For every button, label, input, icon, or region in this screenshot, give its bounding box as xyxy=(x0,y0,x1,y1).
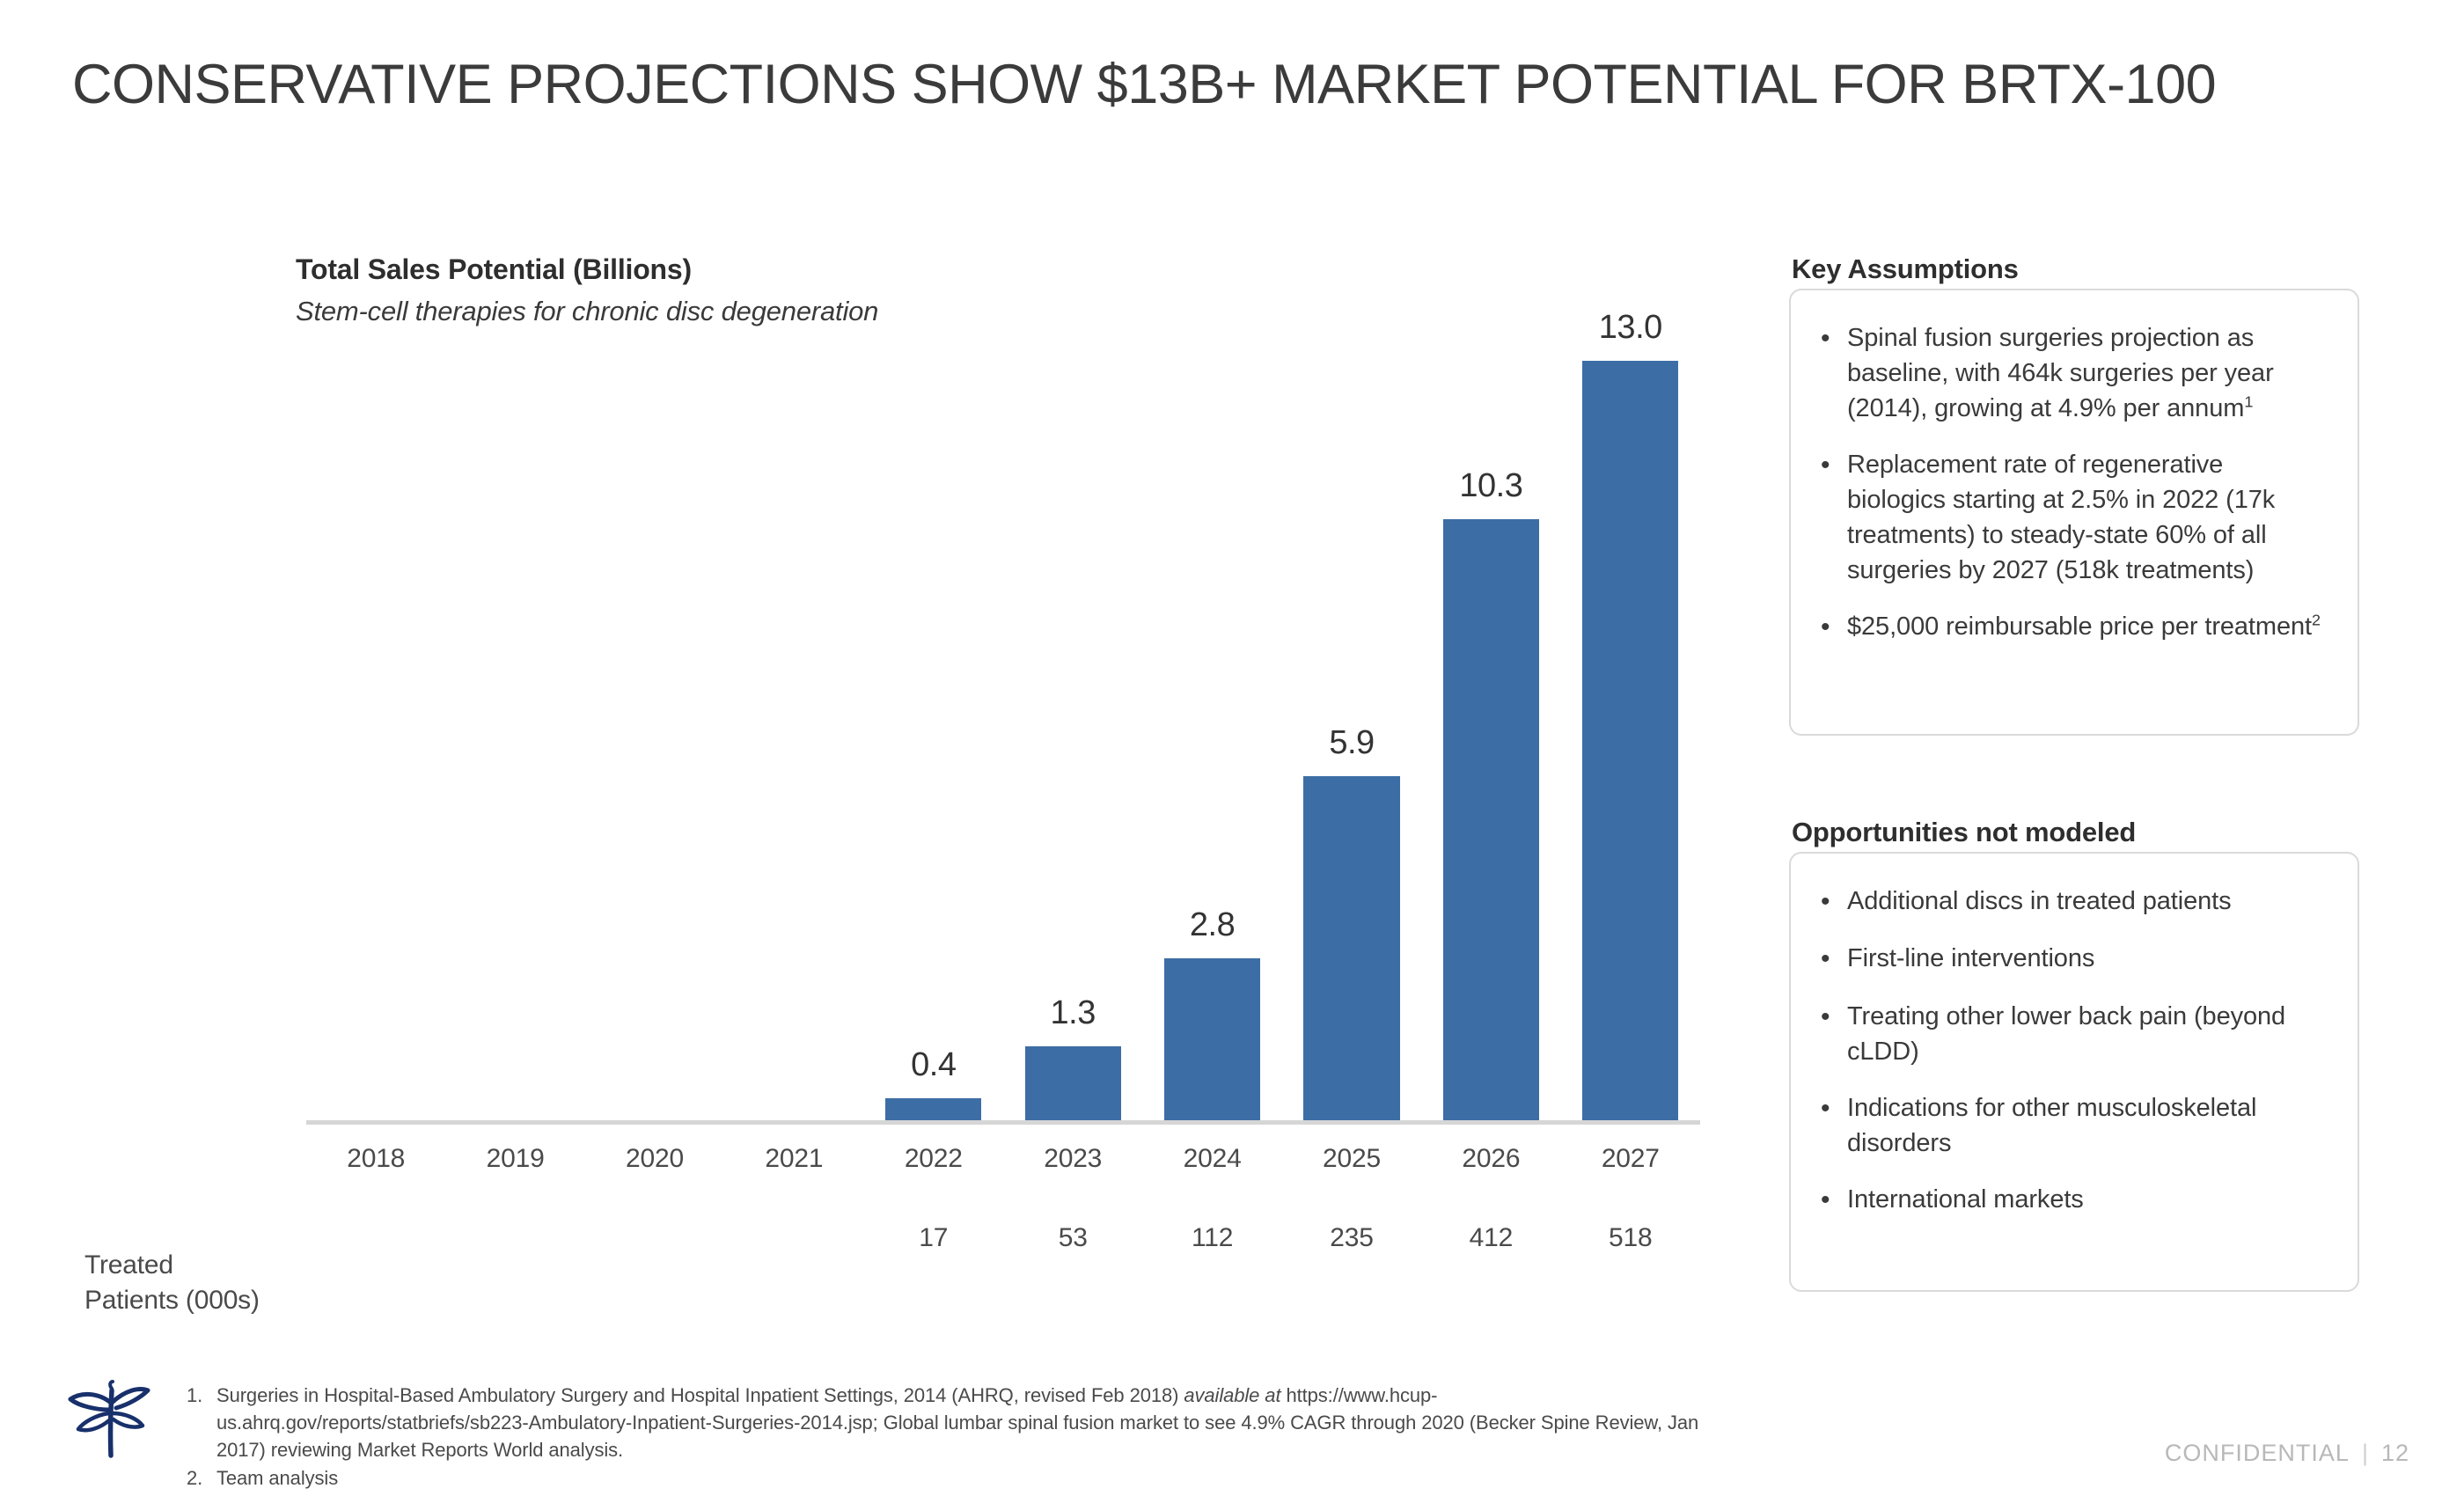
treated-patients-2024: 112 xyxy=(1142,1223,1281,1253)
page-number: 12 xyxy=(2381,1440,2409,1466)
bar-slot xyxy=(585,290,724,1122)
treated-patients-2026: 412 xyxy=(1421,1223,1560,1253)
treated-patients-2023: 53 xyxy=(1003,1223,1142,1253)
bar-slot xyxy=(724,290,863,1122)
bullet-dot-icon: • xyxy=(1821,447,1847,483)
treated-patients-title-line-2: Patients (000s) xyxy=(84,1283,260,1318)
x-axis-label-2021: 2021 xyxy=(724,1144,863,1174)
footnote-number: 2. xyxy=(187,1464,216,1492)
bullet-dot-icon: • xyxy=(1821,1182,1847,1218)
chart-heading: Total Sales Potential (Billions) xyxy=(296,253,692,286)
key-assumption-item: •Spinal fusion surgeries projection as b… xyxy=(1821,320,2328,426)
treated-patients-2022: 17 xyxy=(864,1223,1003,1253)
bar-value-label-2027: 13.0 xyxy=(1561,309,1700,347)
key-assumptions-list: •Spinal fusion surgeries projection as b… xyxy=(1791,290,2358,664)
key-assumptions-heading: Key Assumptions xyxy=(1792,253,2019,285)
x-axis-label-2022: 2022 xyxy=(864,1144,1003,1174)
bar-slot: 2.8 xyxy=(1142,290,1281,1122)
bar-2023[interactable] xyxy=(1025,1046,1121,1123)
footnote-italic: available at xyxy=(1184,1384,1280,1406)
key-assumption-item-text: Replacement rate of regenerative biologi… xyxy=(1847,447,2328,588)
x-axis-label-2023: 2023 xyxy=(1003,1144,1142,1174)
opportunity-item: •Additional discs in treated patients xyxy=(1821,884,2328,920)
bar-value-label-2022: 0.4 xyxy=(864,1046,1003,1084)
x-axis-tick-labels: 2018201920202021202220232024202520262027 xyxy=(306,1144,1700,1188)
opportunity-item-text: International markets xyxy=(1847,1182,2328,1217)
treated-patients-2025: 235 xyxy=(1282,1223,1421,1253)
chart-panel: Total Sales Potential (Billions) Stem-ce… xyxy=(0,0,1760,1338)
confidential-footer: CONFIDENTIAL|12 xyxy=(2165,1440,2409,1467)
bar-value-label-2023: 1.3 xyxy=(1003,994,1142,1032)
bar-slot: 10.3 xyxy=(1421,290,1560,1122)
footnotes: 1.Surgeries in Hospital-Based Ambulatory… xyxy=(187,1382,1735,1492)
x-axis-label-2020: 2020 xyxy=(585,1144,724,1174)
bar-value-label-2024: 2.8 xyxy=(1142,906,1281,944)
bar-slot: 0.4 xyxy=(864,290,1003,1122)
treated-patients-title-line-1: Treated xyxy=(84,1248,260,1283)
confidential-label: CONFIDENTIAL xyxy=(2165,1440,2350,1466)
x-axis-label-2024: 2024 xyxy=(1142,1144,1281,1174)
bullet-dot-icon: • xyxy=(1821,609,1847,645)
footnote: 2.Team analysis xyxy=(187,1464,1735,1492)
bar-2026[interactable] xyxy=(1443,519,1539,1122)
key-assumption-item-text: $25,000 reimbursable price per treatment… xyxy=(1847,609,2328,644)
opportunity-item: •International markets xyxy=(1821,1182,2328,1218)
opportunity-item: •Treating other lower back pain (beyond … xyxy=(1821,999,2328,1069)
opportunities-box: •Additional discs in treated patients•Fi… xyxy=(1789,852,2359,1292)
x-axis-line xyxy=(306,1120,1700,1125)
bullet-dot-icon: • xyxy=(1821,999,1847,1035)
footer-separator: | xyxy=(2350,1440,2381,1466)
bar-slot: 5.9 xyxy=(1282,290,1421,1122)
treated-patients-2027: 518 xyxy=(1561,1223,1700,1253)
key-assumption-item: •$25,000 reimbursable price per treatmen… xyxy=(1821,609,2328,645)
bullet-dot-icon: • xyxy=(1821,884,1847,920)
bar-2022[interactable] xyxy=(885,1098,981,1122)
dragonfly-logo xyxy=(55,1371,169,1477)
x-axis-label-2027: 2027 xyxy=(1561,1144,1700,1174)
footnote: 1.Surgeries in Hospital-Based Ambulatory… xyxy=(187,1382,1735,1464)
footnote-text: Team analysis xyxy=(216,1464,1735,1492)
x-axis-label-2025: 2025 xyxy=(1282,1144,1421,1174)
opportunity-item-text: First-line interventions xyxy=(1847,941,2328,976)
x-axis-label-2026: 2026 xyxy=(1421,1144,1560,1174)
bar-slot: 1.3 xyxy=(1003,290,1142,1122)
bar-value-label-2025: 5.9 xyxy=(1282,724,1421,762)
bar-slot: 13.0 xyxy=(1561,290,1700,1122)
opportunity-item: •First-line interventions xyxy=(1821,941,2328,977)
footnote-number: 1. xyxy=(187,1382,216,1409)
bullet-dot-icon: • xyxy=(1821,941,1847,977)
opportunities-list: •Additional discs in treated patients•Fi… xyxy=(1791,854,2358,1236)
bar-chart-plot-area: 0.41.32.85.910.313.0 xyxy=(306,290,1700,1122)
opportunity-item-text: Treating other lower back pain (beyond c… xyxy=(1847,999,2328,1069)
opportunity-item-text: Additional discs in treated patients xyxy=(1847,884,2328,919)
key-assumptions-box: •Spinal fusion surgeries projection as b… xyxy=(1789,289,2359,736)
opportunity-item: •Indications for other musculoskeletal d… xyxy=(1821,1090,2328,1161)
bullet-dot-icon: • xyxy=(1821,1090,1847,1126)
bullet-dot-icon: • xyxy=(1821,320,1847,356)
key-assumption-item-text: Spinal fusion surgeries projection as ba… xyxy=(1847,320,2328,426)
treated-patients-axis-title: Treated Patients (000s) xyxy=(84,1248,260,1317)
bar-2024[interactable] xyxy=(1164,958,1260,1122)
x-axis-label-2019: 2019 xyxy=(445,1144,584,1174)
footnote-marker: 1 xyxy=(2244,392,2253,410)
treated-patients-row: 1753112235412518 xyxy=(306,1223,1700,1267)
bar-2027[interactable] xyxy=(1582,361,1678,1122)
bar-2025[interactable] xyxy=(1303,776,1399,1122)
opportunities-heading: Opportunities not modeled xyxy=(1792,817,2136,848)
footnote-marker: 2 xyxy=(2312,611,2321,628)
bar-value-label-2026: 10.3 xyxy=(1421,467,1560,505)
footnote-text: Surgeries in Hospital-Based Ambulatory S… xyxy=(216,1382,1735,1464)
x-axis-label-2018: 2018 xyxy=(306,1144,445,1174)
bar-slot xyxy=(445,290,584,1122)
opportunity-item-text: Indications for other musculoskeletal di… xyxy=(1847,1090,2328,1161)
bar-slot xyxy=(306,290,445,1122)
key-assumption-item: •Replacement rate of regenerative biolog… xyxy=(1821,447,2328,588)
